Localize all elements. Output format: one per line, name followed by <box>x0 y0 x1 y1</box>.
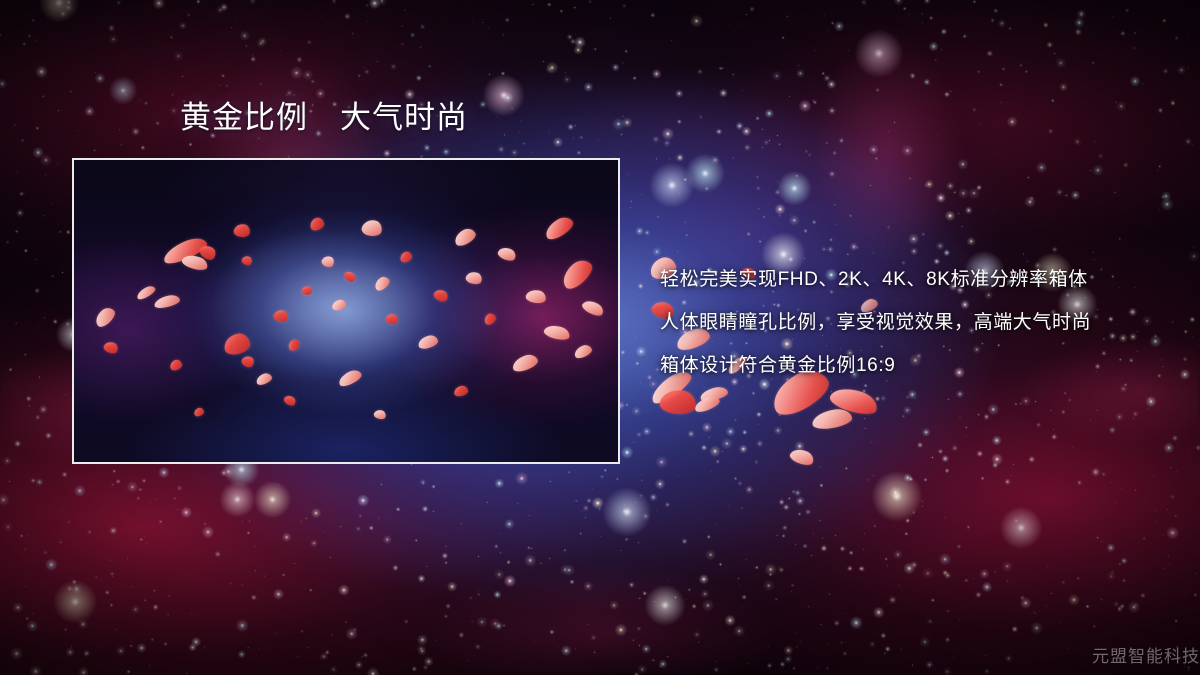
presentation-slide: 黄金比例 大气时尚 轻松完美实现FHD、2K、4K、8K标准分辨率箱体 人体眼睛… <box>0 0 1200 675</box>
body-line-2: 人体眼睛瞳孔比例，享受视觉效果，高端大气时尚 <box>660 301 1091 344</box>
framed-nebula <box>74 160 618 462</box>
framed-image-content <box>74 160 618 462</box>
body-line-3: 箱体设计符合黄金比例16:9 <box>660 344 1091 387</box>
watermark: 元盟智能科技 <box>1092 642 1200 667</box>
framed-image <box>72 158 620 464</box>
body-line-1: 轻松完美实现FHD、2K、4K、8K标准分辨率箱体 <box>660 258 1091 301</box>
body-text-block: 轻松完美实现FHD、2K、4K、8K标准分辨率箱体 人体眼睛瞳孔比例，享受视觉效… <box>660 258 1091 387</box>
page-title: 黄金比例 大气时尚 <box>180 100 468 137</box>
